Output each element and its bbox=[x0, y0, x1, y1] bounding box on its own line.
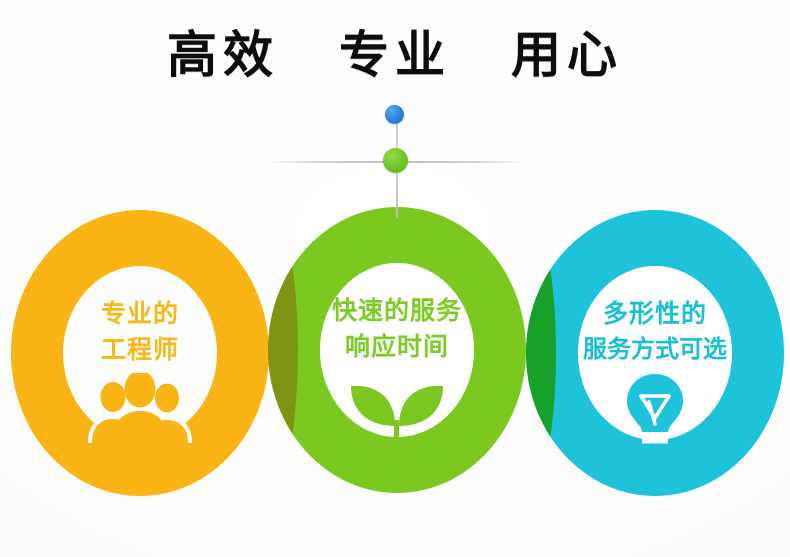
circle-content-orange: 专业的 工程师 bbox=[11, 296, 269, 449]
people-icon bbox=[11, 373, 269, 449]
circle-green-line-1: 快速的服务 bbox=[268, 293, 526, 329]
circle-green-line-2: 响应时间 bbox=[268, 329, 526, 365]
circle-orange-line-1: 专业的 bbox=[11, 296, 269, 332]
circle-cyan-line-1: 多形性的 bbox=[526, 296, 784, 332]
title-word-3: 用心 bbox=[511, 30, 623, 80]
title-word-2: 专业 bbox=[339, 30, 451, 80]
circle-orange-line-2: 工程师 bbox=[11, 332, 269, 368]
circle-content-cyan: 多形性的 服务方式可选 bbox=[526, 296, 784, 448]
circle-cyan-line-2: 服务方式可选 bbox=[526, 332, 784, 366]
lightbulb-icon bbox=[526, 372, 784, 448]
page-title: 高效 专业 用心 bbox=[0, 30, 790, 80]
circle-content-green: 快速的服务 响应时间 bbox=[268, 293, 526, 446]
sprout-icon bbox=[268, 370, 526, 446]
title-word-1: 高效 bbox=[167, 30, 279, 80]
